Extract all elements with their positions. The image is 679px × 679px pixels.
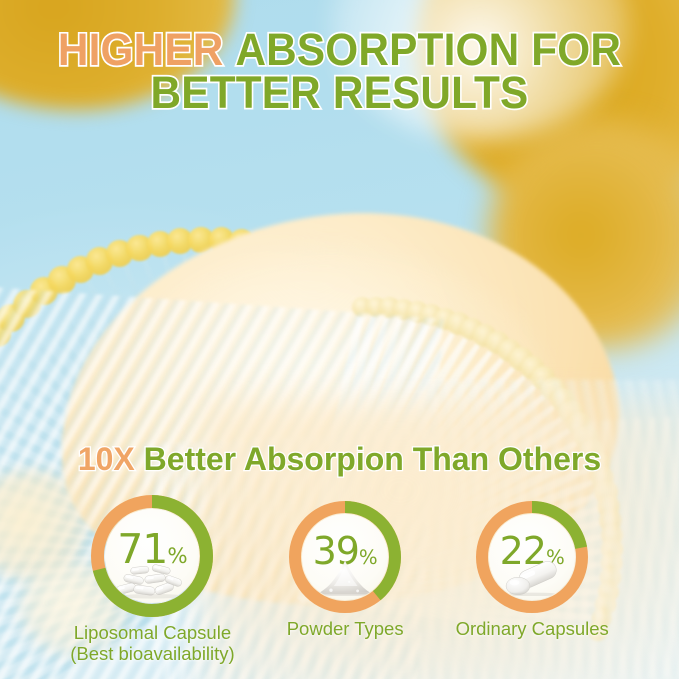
headline: HIGHER ABSORPTION FOR BETTER RESULTS — [0, 28, 679, 114]
absorption-ring-1: 71%Liposomal Capsule(Best bioavailabilit… — [70, 495, 235, 664]
ring-caption: Liposomal Capsule(Best bioavailability) — [70, 623, 235, 664]
subheadline-highlight: 10X — [78, 441, 135, 477]
ring-caption: Ordinary Capsules — [456, 619, 609, 640]
headline-line-1: HIGHER ABSORPTION FOR — [20, 28, 658, 71]
ring-caption-line-1: Powder Types — [287, 618, 404, 639]
ring-wrap: 22% — [476, 501, 588, 613]
ring-caption-line-2: (Best bioavailability) — [70, 644, 235, 665]
ring-wrap: 71% — [91, 495, 213, 617]
ring-caption: Powder Types — [287, 619, 404, 640]
subheadline-spacer — [135, 441, 144, 477]
absorption-ring-3: 22%Ordinary Capsules — [456, 501, 609, 640]
ring-inner-face: 22% — [489, 514, 575, 600]
ring-caption-line-1: Liposomal Capsule — [74, 622, 231, 643]
absorption-ring-group: 71%Liposomal Capsule(Best bioavailabilit… — [0, 495, 679, 664]
product-infographic: HIGHER ABSORPTION FOR BETTER RESULTS 10X… — [0, 0, 679, 679]
subheadline-text: Better Absorpion Than Others — [144, 441, 602, 477]
ring-inner-face: 71% — [105, 509, 199, 603]
ring-wrap: 39% — [289, 501, 401, 613]
absorption-ring-2: 39%Powder Types — [287, 501, 404, 640]
headline-line-2: BETTER RESULTS — [20, 71, 658, 114]
powder-pile-icon — [310, 558, 381, 596]
ring-caption-line-1: Ordinary Capsules — [456, 618, 609, 639]
two-capsules-icon — [497, 558, 568, 596]
ring-inner-face: 39% — [302, 514, 388, 600]
subheadline: 10X Better Absorpion Than Others — [0, 441, 679, 478]
capsules-pile-icon — [114, 558, 191, 599]
